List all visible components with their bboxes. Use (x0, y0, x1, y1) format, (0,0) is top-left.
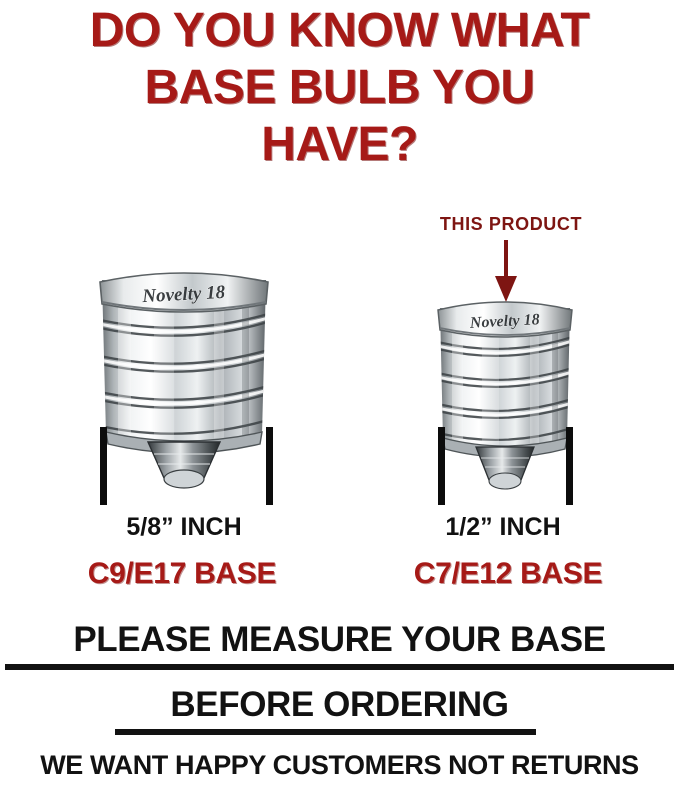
this-product-label: THIS PRODUCT (396, 214, 626, 234)
bulb-base-image-right: Novelty 18 (432, 292, 578, 494)
measure-tick-left-start (100, 427, 107, 505)
measure-tick-right-start (438, 427, 445, 505)
base-type-label-left: C9/E17 BASE (52, 557, 312, 591)
notice-underline-1 (5, 664, 674, 670)
measure-tick-right-end (566, 427, 573, 505)
page-title-line-1: DO YOU KNOW WHAT (0, 2, 679, 59)
notice-happy-customers: WE WANT HAPPY CUSTOMERS NOT RETURNS (0, 750, 679, 781)
bulb-base-image-left: Novelty 18 (92, 262, 276, 494)
notice-underline-2 (115, 729, 536, 735)
measure-tick-left-end (266, 427, 273, 505)
measurement-label-right: 1/2” INCH (416, 513, 590, 541)
page-title-line-2: BASE BULB YOU (0, 59, 679, 116)
notice-measure-base: PLEASE MEASURE YOUR BASE (0, 620, 679, 660)
page-title: DO YOU KNOW WHAT BASE BULB YOU HAVE? (0, 2, 679, 173)
svg-text:Novelty 18: Novelty 18 (141, 282, 226, 307)
measurement-label-left: 5/8” INCH (86, 513, 282, 541)
base-type-label-right: C7/E12 BASE (378, 557, 638, 591)
notice-before-ordering: BEFORE ORDERING (0, 685, 679, 725)
page-title-line-3: HAVE? (0, 116, 679, 173)
